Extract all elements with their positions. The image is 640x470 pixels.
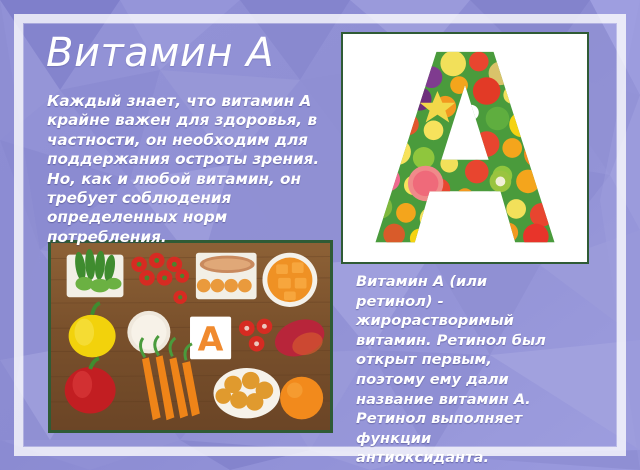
page-title: Витамин А	[46, 30, 274, 76]
vitamin-a-foods-photo: A	[48, 240, 333, 433]
letter-a-fruit-illustration	[343, 34, 587, 262]
vitamin-a-foods-illustration: A	[51, 243, 330, 430]
svg-text:A: A	[198, 320, 224, 359]
retinol-paragraph: Витамин А (или ретинол) - жирорастворимы…	[356, 272, 562, 468]
intro-paragraph: Каждый знает, что витамин А крайне важен…	[47, 92, 331, 247]
slide: A	[0, 0, 640, 470]
letter-a-fruit-photo	[341, 32, 589, 264]
